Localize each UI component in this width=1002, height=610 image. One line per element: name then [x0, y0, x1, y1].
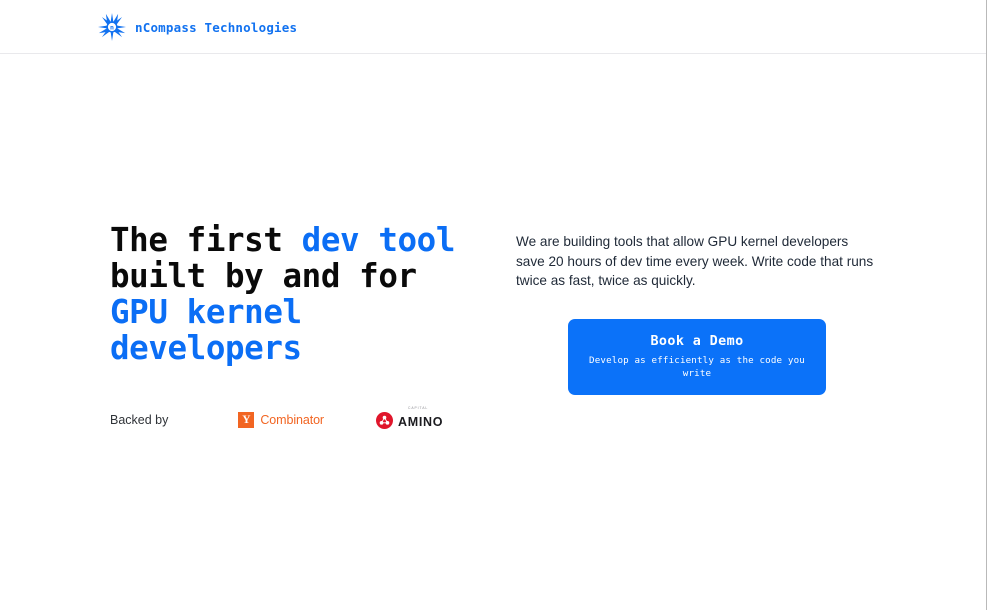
compass-rose-icon: n: [98, 13, 126, 41]
book-a-demo-title: Book a Demo: [580, 333, 814, 350]
y-combinator-label: Combinator: [260, 413, 324, 427]
hero-section: The first dev tool built by and for GPU …: [0, 54, 986, 610]
svg-text:n: n: [110, 24, 114, 32]
headline-line4: developers: [110, 329, 302, 367]
amino-logo-icon: [376, 412, 393, 429]
amino-label: AMINO: [398, 415, 443, 429]
backed-by-row: Backed by Y Combinator CAPITAL: [110, 408, 443, 432]
site-header: n nCompass Technologies: [0, 0, 986, 54]
page-root: n nCompass Technologies The first dev to…: [0, 0, 1002, 610]
book-a-demo-subtitle: Develop as efficiently as the code you w…: [580, 354, 814, 380]
page-scrollbar-edge[interactable]: [986, 0, 987, 610]
book-a-demo-button[interactable]: Book a Demo Develop as efficiently as th…: [568, 319, 826, 395]
brand-name: nCompass Technologies: [135, 20, 297, 35]
hero-left-column: The first dev tool built by and for GPU …: [110, 222, 500, 366]
backed-by-label: Backed by: [110, 408, 168, 432]
headline-line2: built by and for: [110, 257, 417, 295]
headline-line1-plain: The first: [110, 221, 302, 259]
amino-sublabel: CAPITAL: [408, 406, 428, 411]
page-title: The first dev tool built by and for GPU …: [110, 222, 500, 366]
investor-y-combinator[interactable]: Y Combinator: [238, 408, 324, 432]
hero-right-column: We are building tools that allow GPU ker…: [516, 232, 878, 395]
investor-amino[interactable]: CAPITAL AMINO: [376, 408, 443, 432]
headline-line3: GPU kernel: [110, 293, 302, 331]
y-combinator-icon: Y: [238, 412, 254, 428]
amino-wordmark: CAPITAL AMINO: [398, 410, 443, 431]
headline-line1-accent: dev tool: [302, 221, 455, 259]
brand-logo-link[interactable]: n nCompass Technologies: [98, 12, 297, 42]
hero-paragraph: We are building tools that allow GPU ker…: [516, 232, 878, 291]
